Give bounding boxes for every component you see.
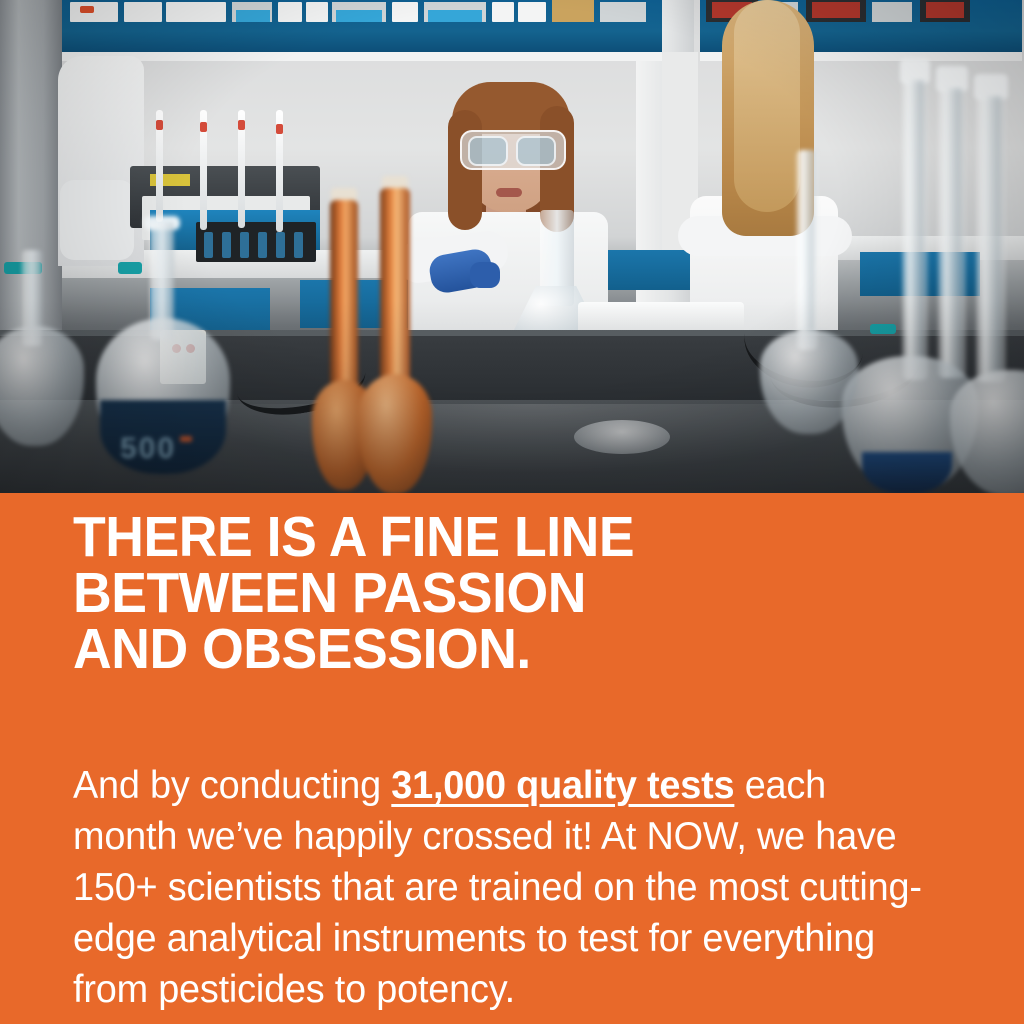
- body-copy: And by conducting 31,000 quality tests e…: [73, 760, 927, 1015]
- lab-photo: 500: [0, 0, 1024, 493]
- body-before: And by conducting: [73, 764, 391, 807]
- page-title: THERE IS A FINE LINE BETWEEN PASSION AND…: [73, 509, 919, 677]
- stat-highlight: 31,000 quality tests: [391, 764, 734, 807]
- ad-canvas: 500 THERE IS A FINE: [0, 0, 1024, 1024]
- photo-vignette: [0, 0, 1024, 493]
- orange-text-panel: THERE IS A FINE LINE BETWEEN PASSION AND…: [0, 493, 1024, 1024]
